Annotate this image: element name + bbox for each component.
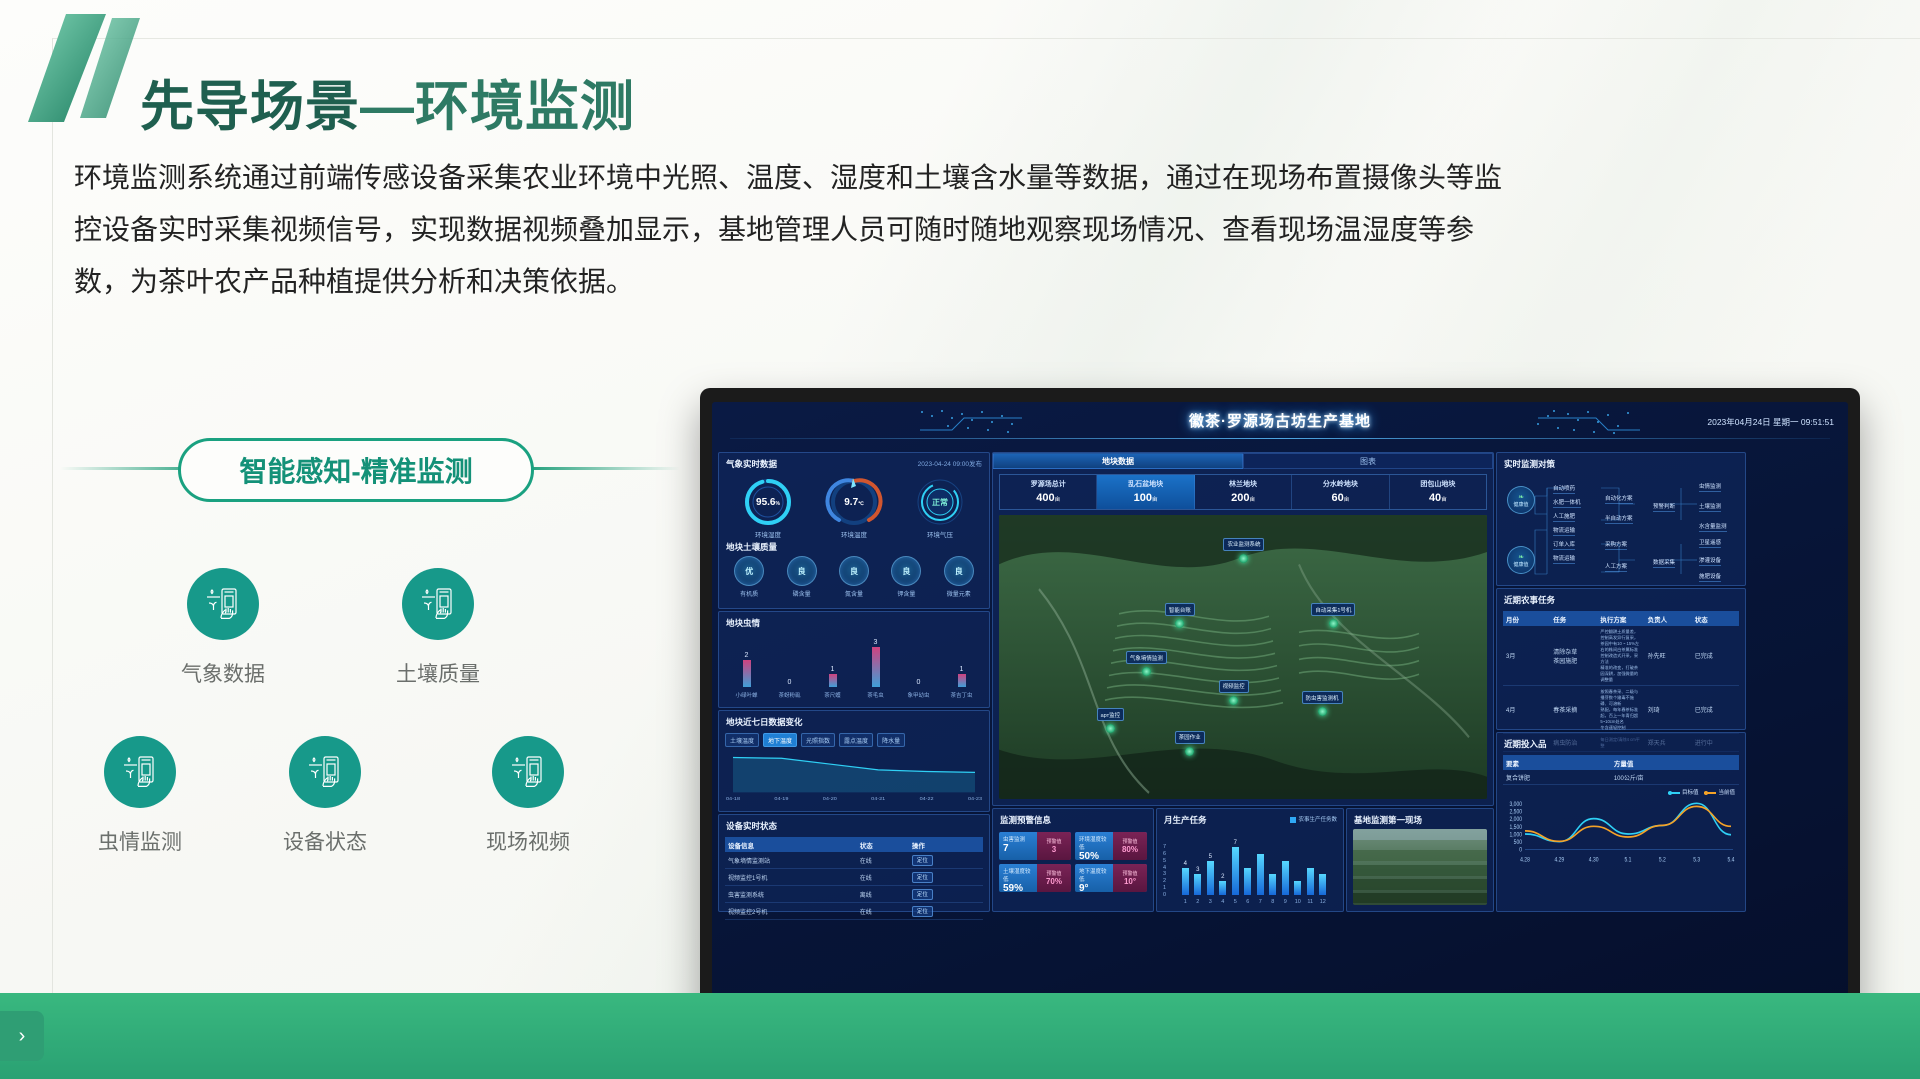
hand-tablet-plant-icon [104,736,176,808]
section-badge: 智能感知-精准监测 [178,438,534,502]
month-bar-value: 2 [1215,874,1231,880]
camera-panel-title: 基地监测第一现场 [1347,809,1493,828]
invest-legend: 目标值当前值 [1668,788,1735,796]
photo-hill [1353,850,1487,861]
svg-text:5.1: 5.1 [1625,857,1632,864]
weather-panel: 气象实时数据 2023-04-24 09:00发布 95.6% 环境湿度 [718,452,990,609]
month-panel: 月生产任务 农事生产任务数 01234567413253247567891011… [1156,808,1344,912]
column-header: 负责人 [1645,611,1692,626]
land-block-name: 罗源场总计 [1000,479,1096,489]
land-panel: 地块数据图表 罗源场总计 400亩乱石盆地块 100亩林兰地块 200亩分水岭地… [992,452,1494,806]
device-action[interactable]: 定位 [909,886,983,903]
warn-threshold-value: 3 [1052,845,1056,854]
base-map[interactable]: 农业监测系统智能台账自动采集1号机气象墒情监测视频监控防虫害监测机арт监控茶园… [999,515,1487,799]
feature-label-1: 土壤质量 [353,658,523,688]
gauge-label-humidity: 环境湿度 [732,529,804,539]
warn-card-label: 地下温度较低 [1079,867,1109,883]
trend-chip[interactable]: 土壤温度 [725,733,759,747]
month-y-tick: 4 [1163,865,1166,871]
warn-card[interactable]: 虫害监测 7 预警值 3 [999,832,1071,860]
photo-rowcrop-2 [1353,879,1487,890]
land-tab[interactable]: 地块数据 [993,453,1243,469]
task-row[interactable]: 4月 春茶采摘 按照春茶采、二级与播芽数个嫩毒不施磷、可溶新熟配，每年春茶标准起… [1503,686,1739,734]
gauge-pressure: 正常 环境气压 [904,476,976,539]
svg-text:正常: 正常 [932,497,948,507]
map-node-label: 智能台账 [1165,603,1195,616]
svg-text:4.29: 4.29 [1554,857,1564,864]
month-bar [1194,874,1201,895]
land-block-unit: 亩 [1441,497,1447,503]
warn-card[interactable]: 环境湿度较低 50% 预警值 80% [1075,832,1147,860]
land-block-value: 200亩 [1195,492,1291,504]
land-block[interactable]: 罗源场总计 400亩 [1000,475,1097,509]
locate-button[interactable]: 定位 [912,906,933,917]
strategy-node-col4: 卫星遥感 [1699,538,1721,548]
locate-button[interactable]: 定位 [912,855,933,866]
strategy-node-col1: 物流运输 [1553,526,1575,536]
device-row[interactable]: 气象墒情监测站 在线 定位 [725,852,983,869]
feature-item-4[interactable]: 现场视频 [443,736,613,856]
map-node[interactable]: 视频监控 [1219,680,1249,705]
column-header: 方量值 [1611,755,1739,770]
dashboard-datetime: 2023年04月24日 星期一 09:51:51 [1707,416,1834,428]
strategy-node-col3: 数据采集 [1653,558,1675,568]
warn-card-right: 预警值 10° [1113,864,1147,892]
soil-grade-0: 优 [734,556,764,586]
month-bar [1219,881,1226,895]
pest-bar-label: 茶吉丁虫 [944,691,980,699]
device-status: 离线 [857,886,909,903]
strategy-node-col1: 人工施肥 [1553,512,1575,522]
map-node[interactable]: арт监控 [1097,708,1125,733]
pest-bar [958,674,966,687]
invest-legend-item: 目标值 [1668,788,1699,796]
svg-text:1,500: 1,500 [1510,824,1522,831]
task-month: 3月 [1503,626,1550,686]
column-header: 状态 [1692,611,1739,626]
warn-card-label: 土壤湿度较低 [1003,867,1033,883]
warn-panel-title: 监测预警信息 [993,809,1153,828]
invest-amount: 100公斤/亩 [1611,770,1739,785]
pest-bar-value: 2 [736,652,758,659]
device-name: 视频监控2号机 [725,903,857,920]
map-node[interactable]: 防虫害监测机 [1302,691,1343,716]
strategy-node-col3: 预警判断 [1653,502,1675,512]
device-table-header: 设备信息状态操作 [725,837,983,852]
land-block-unit: 亩 [1055,497,1061,503]
badge-line-right [530,467,680,470]
svg-text:04-23: 04-23 [968,796,982,801]
warn-threshold-value: 70% [1046,877,1062,886]
locate-button[interactable]: 定位 [912,872,933,883]
warn-threshold-label: 预警值 [1046,870,1061,877]
svg-text:04-19: 04-19 [774,796,788,801]
feature-item-3[interactable]: 设备状态 [240,736,410,856]
top-divider [52,38,1920,39]
device-action[interactable]: 定位 [909,852,983,869]
device-name: 视频监控1号机 [725,869,857,886]
strategy-node-col1: 订单入库 [1553,540,1575,550]
month-bar [1182,868,1189,895]
invest-line-chart: 05001,0001,5002,0002,5003,0004.284.294.3… [1503,788,1739,864]
task-panel-title: 近期农事任务 [1497,589,1745,608]
month-bar-chart: 0123456741325324756789101112 [1163,832,1337,906]
task-name: 清除杂草茶园施肥 [1550,626,1597,686]
land-block-unit: 亩 [1344,497,1350,503]
land-block-name: 团包山地块 [1390,479,1486,489]
strategy-node-col4: 土壤监测 [1699,502,1721,512]
warn-card[interactable]: 地下温度较低 9° 预警值 10° [1075,864,1147,892]
month-legend-label: 农事生产任务数 [1298,817,1337,823]
strategy-node-col1: 物流运输 [1553,554,1575,564]
strategy-node-col2: 采购方案 [1605,540,1627,550]
month-y-tick: 7 [1163,844,1166,850]
map-pin-icon [1329,619,1338,628]
month-legend-swatch [1290,817,1296,823]
svg-text:04-20: 04-20 [823,796,837,801]
invest-row[interactable]: 复合饼肥 100公斤/亩 [1503,770,1739,785]
map-node-label: арт监控 [1097,708,1125,721]
map-pin-icon [1106,724,1115,733]
svg-text:0: 0 [1519,847,1522,854]
gauge-temperature: 9.7℃ 环境温度 [818,476,890,539]
hand-tablet-plant-icon [492,736,564,808]
map-pin-icon [1175,619,1184,628]
warn-threshold-value: 10° [1124,877,1136,886]
column-header: 状态 [857,837,909,852]
warn-card-value: 7 [1003,843,1033,854]
column-header: 任务 [1550,611,1597,626]
pest-bar-value: 0 [779,679,801,686]
land-block-unit: 亩 [1249,497,1255,503]
strategy-node-col4: 渗灌设备 [1699,556,1721,566]
invest-table: 要素方量值 复合饼肥 100公斤/亩 [1503,755,1739,785]
warn-card-left: 环境湿度较低 50% [1075,832,1113,860]
map-node-label: 茶园作业 [1175,731,1205,744]
land-block-row: 罗源场总计 400亩乱石盆地块 100亩林兰地块 200亩分水岭地块 60亩团包… [999,474,1487,510]
land-block-value: 400亩 [1000,492,1096,504]
device-row[interactable]: 视频监控2号机 在线 定位 [725,903,983,920]
soil-item-3: 良 钾含量 [883,556,929,598]
health-node-label: 健康值 [1513,561,1528,568]
map-node[interactable]: 茶园作业 [1175,731,1205,756]
month-bar [1319,874,1326,895]
dashboard-header: 徽茶·罗源场古坊生产基地 2023年04月24日 星期一 09:51:51 [712,402,1848,448]
warn-card-label: 环境湿度较低 [1079,835,1109,851]
column-header: 设备信息 [725,837,857,852]
warn-card-right: 预警值 70% [1037,864,1071,892]
invest-legend-swatch [1704,792,1716,794]
task-row[interactable]: 3月 清除杂草茶园施肥 严控翻耕土质量差，控制高发异行复采，茶园中有10 ~ 1… [1503,626,1739,686]
strategy-node-col4: 施肥设备 [1699,572,1721,582]
strategy-node-col1: 自动喷药 [1553,484,1575,494]
svg-text:04-22: 04-22 [920,796,934,801]
land-tab-row: 地块数据图表 [993,453,1493,469]
month-y-tick: 0 [1163,892,1166,898]
brand-slash-logo [28,14,148,124]
map-pin-icon [1318,707,1327,716]
warn-threshold-label: 预警值 [1122,838,1137,845]
feature-label-0: 气象数据 [138,658,308,688]
warn-card-right: 预警值 80% [1113,832,1147,860]
soil-grade-4: 良 [944,556,974,586]
map-node[interactable]: 自动采集1号机 [1311,603,1355,628]
device-action[interactable]: 定位 [909,903,983,920]
warn-threshold-label: 预警值 [1046,838,1061,845]
trend-panel: 地块近七日数据变化 土壤温度地下温度光照指数露点温度降水量 04-1804-19… [718,710,990,812]
svg-text:04-21: 04-21 [871,796,885,801]
pest-bar-value: 3 [865,639,887,646]
svg-text:5.3: 5.3 [1693,857,1700,864]
land-block[interactable]: 分水岭地块 60亩 [1292,475,1389,509]
soil-quality-row: 优 有机质 良 磷含量 良 氮含量 良 钾含量 良 微量元素 [719,553,989,603]
monitor-bezel: 徽茶·罗源场古坊生产基地 2023年04月24日 星期一 09:51:51 气象… [700,388,1860,1038]
month-y-tick: 6 [1163,851,1166,857]
month-y-tick: 5 [1163,858,1166,864]
hand-tablet-plant-icon [187,568,259,640]
pest-bar-label: 茶毛虫 [858,691,894,699]
trend-chip[interactable]: 降水量 [877,733,905,747]
month-bar [1307,868,1314,895]
camera-feed[interactable] [1353,829,1487,905]
warn-panel: 监测预警信息 虫害监测 7 预警值 3 环境湿度较低 50% 预警值 80% 土… [992,808,1154,912]
health-node: ❧健康值 [1507,486,1535,514]
month-bar [1207,861,1214,895]
trend-chip[interactable]: 光照指数 [801,733,835,747]
soil-label-4: 微量元素 [936,589,982,598]
month-bar [1232,847,1239,895]
warn-card-right: 预警值 3 [1037,832,1071,860]
column-header: 执行方案 [1597,611,1644,626]
svg-text:4.28: 4.28 [1520,857,1530,864]
photo-rowcrop-1 [1353,865,1487,876]
month-legend: 农事生产任务数 [1290,815,1337,823]
warn-threshold-value: 80% [1122,845,1138,854]
svg-text:5.2: 5.2 [1659,857,1666,864]
task-owner: 孙先旺 [1645,626,1692,686]
soil-grade-1: 良 [787,556,817,586]
map-pin-icon [1142,667,1151,676]
device-table: 设备信息状态操作 气象墒情监测站 在线 定位视频监控1号机 在线 定位虫害监测系… [725,837,983,920]
soil-grade-3: 良 [891,556,921,586]
pest-bar-value: 0 [908,679,930,686]
feature-item-0[interactable]: 气象数据 [138,568,308,688]
invest-element: 复合饼肥 [1503,770,1611,785]
land-block[interactable]: 团包山地块 40亩 [1390,475,1486,509]
svg-text:1,000: 1,000 [1510,832,1522,839]
soil-quality-title: 地块土壤质量 [719,539,989,553]
svg-text:2,500: 2,500 [1510,809,1522,816]
task-panel: 近期农事任务 月份任务执行方案负责人状态 3月 清除杂草茶园施肥 严控翻耕土质量… [1496,588,1746,730]
trend-chip[interactable]: 露点温度 [839,733,873,747]
device-panel: 设备实时状态 设备信息状态操作 气象墒情监测站 在线 定位视频监控1号机 在线 … [718,814,990,912]
map-node[interactable]: 农业监测系统 [1223,538,1264,563]
page-title-main: 先导场景 [140,77,360,137]
leaf-icon: ❧ [1518,493,1524,501]
month-y-tick: 1 [1163,885,1166,891]
feature-item-2[interactable]: 虫情监测 [55,736,225,856]
month-bar [1244,868,1251,895]
trend-chip[interactable]: 地下温度 [763,733,797,747]
health-node-label: 健康值 [1513,501,1528,508]
invest-panel: 近期投入品 要素方量值 复合饼肥 100公斤/亩 05001,0001,5002… [1496,732,1746,912]
invest-panel-title: 近期投入品 [1497,733,1745,752]
hand-tablet-plant-icon [402,568,474,640]
map-pin-icon [1239,554,1248,563]
soil-label-1: 磷含量 [779,589,825,598]
device-status: 在线 [857,869,909,886]
column-header: 要素 [1503,755,1611,770]
svg-text:500: 500 [1514,840,1522,847]
pest-bar-value: 1 [951,666,973,673]
task-plan: 严控翻耕土质量差，控制高发异行复采，茶园中有10 ~ 15%左右的株间白茶属标准… [1597,626,1644,686]
land-block[interactable]: 林兰地块 200亩 [1195,475,1292,509]
page-title: 先导场景—环境监测 [140,62,635,141]
task-owner: 刘琦 [1645,686,1692,734]
invest-legend-item: 当前值 [1704,788,1735,796]
dashboard-title: 徽茶·罗源场古坊生产基地 [712,410,1848,431]
warn-card[interactable]: 土壤湿度较低 59% 预警值 70% [999,864,1071,892]
gauge-row: 95.6% 环境湿度 9.7℃ 环境温度 [719,472,989,539]
land-block[interactable]: 乱石盆地块 100亩 [1097,475,1194,509]
svg-text:5.4: 5.4 [1728,857,1735,864]
device-name: 气象墒情监测站 [725,852,857,869]
warn-card-left: 土壤湿度较低 59% [999,864,1037,892]
soil-item-0: 优 有机质 [726,556,772,598]
device-status: 在线 [857,852,909,869]
map-pin-icon [1229,696,1238,705]
invest-legend-swatch [1668,792,1680,794]
month-bar-value: 7 [1227,840,1243,846]
warn-threshold-label: 预警值 [1122,870,1137,877]
svg-text:9.7℃: 9.7℃ [844,497,864,508]
soil-item-2: 良 氮含量 [831,556,877,598]
camera-panel: 基地监测第一现场 [1346,808,1494,912]
svg-text:2,000: 2,000 [1510,817,1522,824]
map-node[interactable]: 智能台账 [1165,603,1195,628]
page-title-sub: —环境监测 [360,77,635,137]
map-node-label: 农业监测系统 [1223,538,1264,551]
photo-sky [1353,829,1487,840]
invest-table-header: 要素方量值 [1503,755,1739,770]
strategy-node-col4: 虫情监测 [1699,482,1721,492]
strategy-node-col1: 水肥一体机 [1553,498,1581,508]
warn-card-label: 虫害监测 [1003,835,1033,843]
device-action[interactable]: 定位 [909,869,983,886]
section-badge-wrapper: 智能感知-精准监测 [60,438,680,498]
land-block-value: 60亩 [1292,492,1388,504]
footer-band [0,993,1920,1079]
soil-label-0: 有机质 [726,589,772,598]
pest-bar [872,647,880,687]
locate-button[interactable]: 定位 [912,889,933,900]
svg-text:3,000: 3,000 [1510,801,1522,808]
land-tab[interactable]: 图表 [1243,453,1493,469]
photo-rowcrop-3 [1353,893,1487,904]
feature-label-2: 虫情监测 [55,826,225,856]
feature-label-3: 设备状态 [240,826,410,856]
month-bar [1282,861,1289,895]
month-bar-value: 5 [1202,854,1218,860]
map-pin-icon [1185,747,1194,756]
month-bar-value: 3 [1190,867,1206,873]
leaf-icon: ❧ [1518,553,1524,561]
strategy-panel-title: 实时监测对策 [1497,453,1745,472]
map-node-label: 防虫害监测机 [1302,691,1343,704]
land-block-name: 乱石盆地块 [1097,479,1193,489]
map-node-label: 视频监控 [1219,680,1249,693]
strategy-node-col2: 人工方案 [1605,562,1627,572]
next-slide-button[interactable]: › [0,1011,44,1061]
warn-card-value: 9° [1079,883,1109,892]
device-row[interactable]: 视频监控1号机 在线 定位 [725,869,983,886]
device-panel-title: 设备实时状态 [719,815,989,834]
task-status: 已完成 [1692,626,1739,686]
gauge-label-pressure: 环境气压 [904,529,976,539]
hand-tablet-plant-icon [289,736,361,808]
soil-item-1: 良 磷含量 [779,556,825,598]
warn-card-left: 地下温度较低 9° [1075,864,1113,892]
land-block-unit: 亩 [1152,497,1158,503]
trend-panel-title: 地块近七日数据变化 [719,711,989,730]
task-plan: 按照春茶采、二级与播芽数个嫩毒不施磷、可溶新熟配，每年春茶标准起，百上一年青归超… [1597,686,1644,734]
warn-card-value: 50% [1079,851,1109,860]
month-bar [1294,881,1301,895]
gauge-label-temperature: 环境温度 [818,529,890,539]
feature-icon-grid: 气象数据 土壤质量 虫情监测 [110,568,690,898]
soil-grade-2: 良 [839,556,869,586]
device-table-body: 气象墒情监测站 在线 定位视频监控1号机 在线 定位虫害监测系统 离线 定位视频… [725,852,983,920]
health-node: ❧健康值 [1507,546,1535,574]
soil-label-3: 钾含量 [883,589,929,598]
left-divider [52,38,53,993]
column-header: 操作 [909,837,983,852]
invest-table-body: 复合饼肥 100公斤/亩 [1503,770,1739,785]
svg-text:04-18: 04-18 [726,796,740,801]
soil-item-4: 良 微量元素 [936,556,982,598]
map-node-label: 自动采集1号机 [1311,603,1355,616]
weather-published: 2023-04-24 09:00发布 [918,458,982,468]
header-divider [730,438,1830,439]
strategy-node-col4: 水含量监测 [1699,522,1727,532]
feature-item-1[interactable]: 土壤质量 [353,568,523,688]
land-block-value: 40亩 [1390,492,1486,504]
svg-text:95.6%: 95.6% [756,497,780,508]
map-node[interactable]: 气象墒情监测 [1126,651,1167,676]
task-status: 已完成 [1692,686,1739,734]
land-block-name: 林兰地块 [1195,479,1291,489]
map-node-label: 气象墒情监测 [1126,651,1167,664]
month-bar-label: 12 [1315,899,1331,905]
device-row[interactable]: 虫害监测系统 离线 定位 [725,886,983,903]
feature-label-4: 现场视频 [443,826,613,856]
column-header: 月份 [1503,611,1550,626]
pest-bar-value: 1 [822,666,844,673]
strategy-panel: 实时监测对策 自动喷药水肥一体机人工施肥物流运输订单入库物流运输自动化方案半自动… [1496,452,1746,586]
land-block-value: 100亩 [1097,492,1193,504]
device-name: 虫害监测系统 [725,886,857,903]
pest-bar-label: 茶尺蠖 [815,691,851,699]
pest-panel-title: 地块虫情 [719,612,989,631]
svg-text:4.30: 4.30 [1589,857,1599,864]
month-bar [1257,854,1264,895]
soil-label-2: 氮含量 [831,589,877,598]
strategy-tree: 自动喷药水肥一体机人工施肥物流运输订单入库物流运输自动化方案半自动方案采购方案人… [1501,474,1741,582]
warn-card-left: 虫害监测 7 [999,832,1037,860]
month-bar-value: 4 [1177,861,1193,867]
strategy-node-col2: 半自动方案 [1605,514,1633,524]
pest-bar-chart: 2小绿叶蝉0茶蚜粉虱1茶尺蠖3茶毛虫0象甲幼虫1茶吉丁虫 [725,635,983,699]
